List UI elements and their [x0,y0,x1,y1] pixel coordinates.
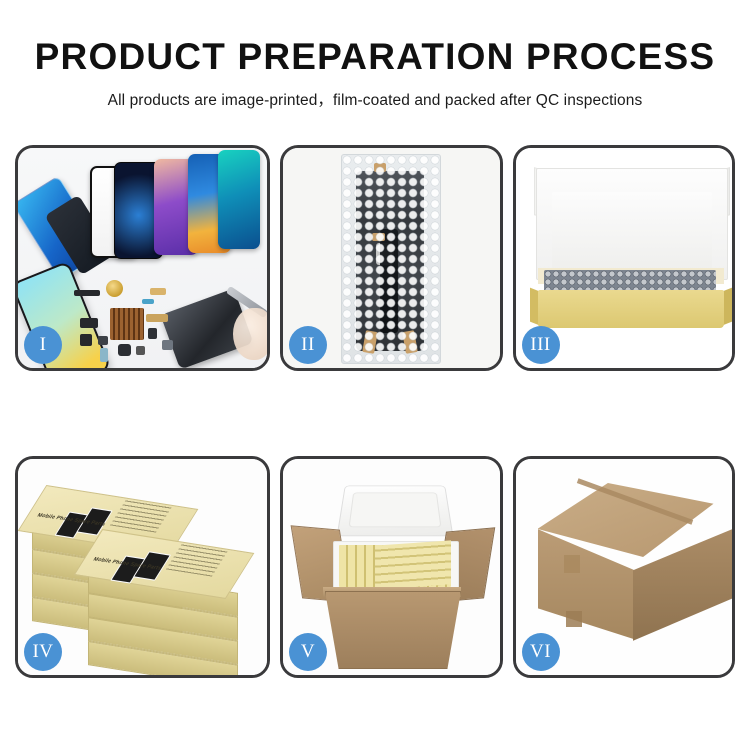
flex-cable-icon [146,314,168,322]
part-icon [136,346,145,355]
phone-screen-teal-icon [218,150,260,249]
carton-tape-icon [564,555,580,573]
step-badge-6: VI [522,633,560,671]
hand-icon [233,308,267,360]
vibration-motor-icon [106,280,123,297]
part-icon [74,290,100,296]
step-badge-1: I [24,326,62,364]
part-icon [80,334,92,346]
page-subtitle: All products are image-printed，film-coat… [0,88,750,110]
part-icon [148,328,157,339]
part-icon [142,299,154,304]
step-badge-4: IV [24,633,62,671]
step-badge-2: II [289,326,327,364]
bubble-texture [342,155,440,363]
step-badge-5: V [289,633,327,671]
step-badge-3: III [522,326,560,364]
process-step-4: Mobile Phone Spare Parts Mobile Phone Sp… [15,456,270,678]
camera-module-icon [118,344,131,356]
part-icon [98,336,108,345]
part-icon [100,348,108,362]
process-step-2: II [280,145,503,371]
box-stack-icon: Mobile Phone Spare Parts Mobile Phone Sp… [26,469,254,669]
product-preparation-infographic: PRODUCT PREPARATION PROCESS All products… [0,0,750,750]
foam-lid-inner-icon [349,493,442,528]
process-step-3: III [513,145,736,371]
packed-retail-boxes-row-icon [375,540,451,589]
logic-board-icon [110,308,144,340]
bubble-bag-icon [341,154,441,364]
carton-front-icon [325,591,461,669]
part-icon [162,340,173,350]
process-step-1: I [15,145,270,371]
page-title: PRODUCT PREPARATION PROCESS [0,38,750,77]
process-step-6: VI [513,456,736,678]
foam-sheet-icon [552,192,712,270]
part-icon [80,318,98,328]
header: PRODUCT PREPARATION PROCESS All products… [0,0,750,110]
yellow-tray-icon [538,290,724,328]
part-icon [150,288,166,295]
carton-tape-icon [566,611,582,627]
process-step-5: V [280,456,503,678]
process-step-grid: I II [15,145,735,678]
